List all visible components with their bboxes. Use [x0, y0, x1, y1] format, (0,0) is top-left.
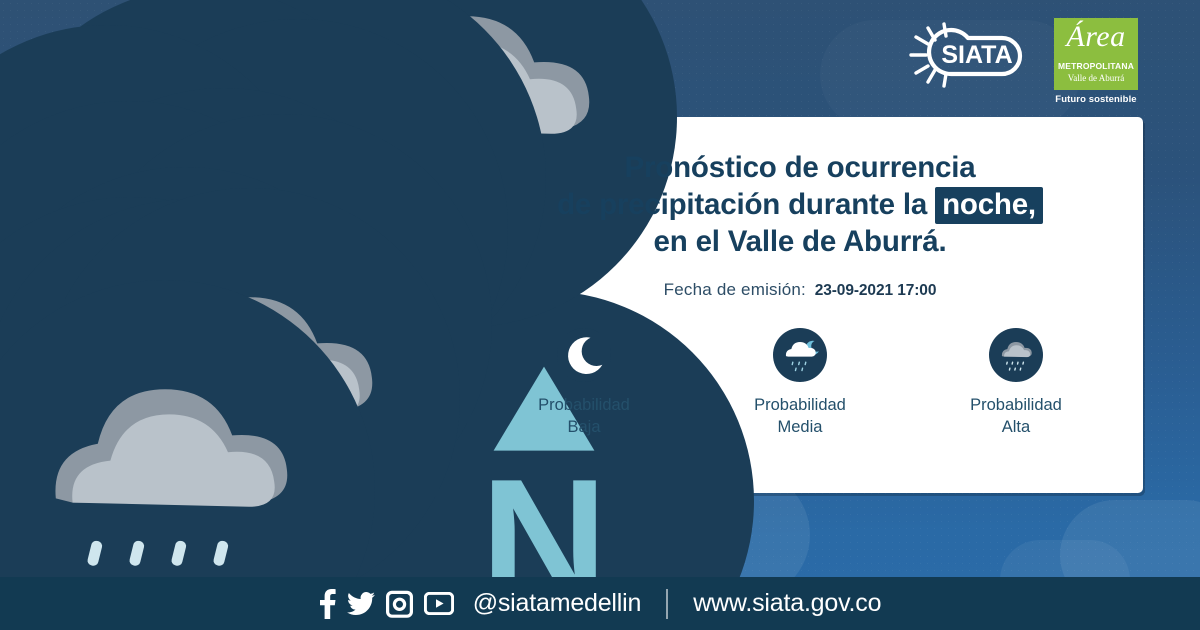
moon-icon [557, 328, 611, 382]
emission-date-value: 23-09-2021 17:00 [815, 282, 937, 299]
valle-de-aburra-map: N [60, 40, 480, 570]
legend-label-line1: Probabilidad [754, 394, 846, 416]
emission-date: Fecha de emisión: 23-09-2021 17:00 [470, 280, 1130, 300]
youtube-icon[interactable] [424, 592, 454, 615]
social-handle[interactable]: @siatamedellin [473, 589, 642, 618]
legend-item-alta: ProbabilidadAlta [941, 328, 1091, 438]
siata-logo-text: SIATA [941, 41, 1012, 69]
website-url[interactable]: www.siata.gov.co [693, 589, 881, 618]
title-line-1: Pronóstico de ocurrencia [470, 150, 1130, 187]
forecast-panel: Pronóstico de ocurrencia de precipitació… [470, 150, 1130, 438]
probability-legend: ProbabilidadBaja ProbabilidadMedia Proba… [470, 328, 1130, 438]
legend-label-line1: Probabilidad [538, 394, 630, 416]
legend-label-line2: Alta [970, 416, 1062, 438]
legend-label-line2: Media [754, 416, 846, 438]
siata-logo: SIATA [906, 18, 1036, 92]
title-line-3: en el Valle de Aburrá. [470, 224, 1130, 261]
map-marker-alta [0, 225, 375, 630]
legend-label-alta: ProbabilidadAlta [970, 394, 1062, 438]
legend-item-media: ProbabilidadMedia [725, 328, 875, 438]
legend-item-baja: ProbabilidadBaja [509, 328, 659, 438]
footer-divider [666, 589, 668, 619]
facebook-icon[interactable] [319, 589, 336, 619]
am-green-block: Área METROPOLITANA Valle de Aburrá [1054, 18, 1138, 90]
area-metropolitana-logo: Área METROPOLITANA Valle de Aburrá Futur… [1054, 18, 1138, 105]
twitter-icon[interactable] [347, 589, 375, 619]
am-tagline: Futuro sostenible [1055, 94, 1136, 105]
social-icon-group [319, 589, 454, 619]
page-title: Pronóstico de ocurrencia de precipitació… [470, 150, 1130, 261]
emission-date-label: Fecha de emisión: [664, 280, 806, 299]
legend-label-media: ProbabilidadMedia [754, 394, 846, 438]
legend-label-baja: ProbabilidadBaja [538, 394, 630, 438]
am-line1: METROPOLITANA [1054, 61, 1138, 71]
legend-label-line1: Probabilidad [970, 394, 1062, 416]
title-line-2: de precipitación durante la noche, [470, 187, 1130, 224]
am-line2: Valle de Aburrá [1054, 73, 1138, 83]
title-highlight-noche: noche, [935, 187, 1043, 224]
legend-label-line2: Baja [538, 416, 630, 438]
footer-bar: @siatamedellin www.siata.gov.co [0, 577, 1200, 630]
infographic-root: SIATA Área METROPOLITANA Valle de Aburrá… [0, 0, 1200, 630]
title-line-2-text: de precipitación durante la [557, 188, 927, 221]
am-script-text: Área [1054, 22, 1138, 52]
cloud-moon-rain-icon [773, 328, 827, 382]
instagram-icon[interactable] [386, 590, 413, 618]
logo-group: SIATA Área METROPOLITANA Valle de Aburrá… [906, 18, 1138, 105]
cloud-rain-icon [989, 328, 1043, 382]
